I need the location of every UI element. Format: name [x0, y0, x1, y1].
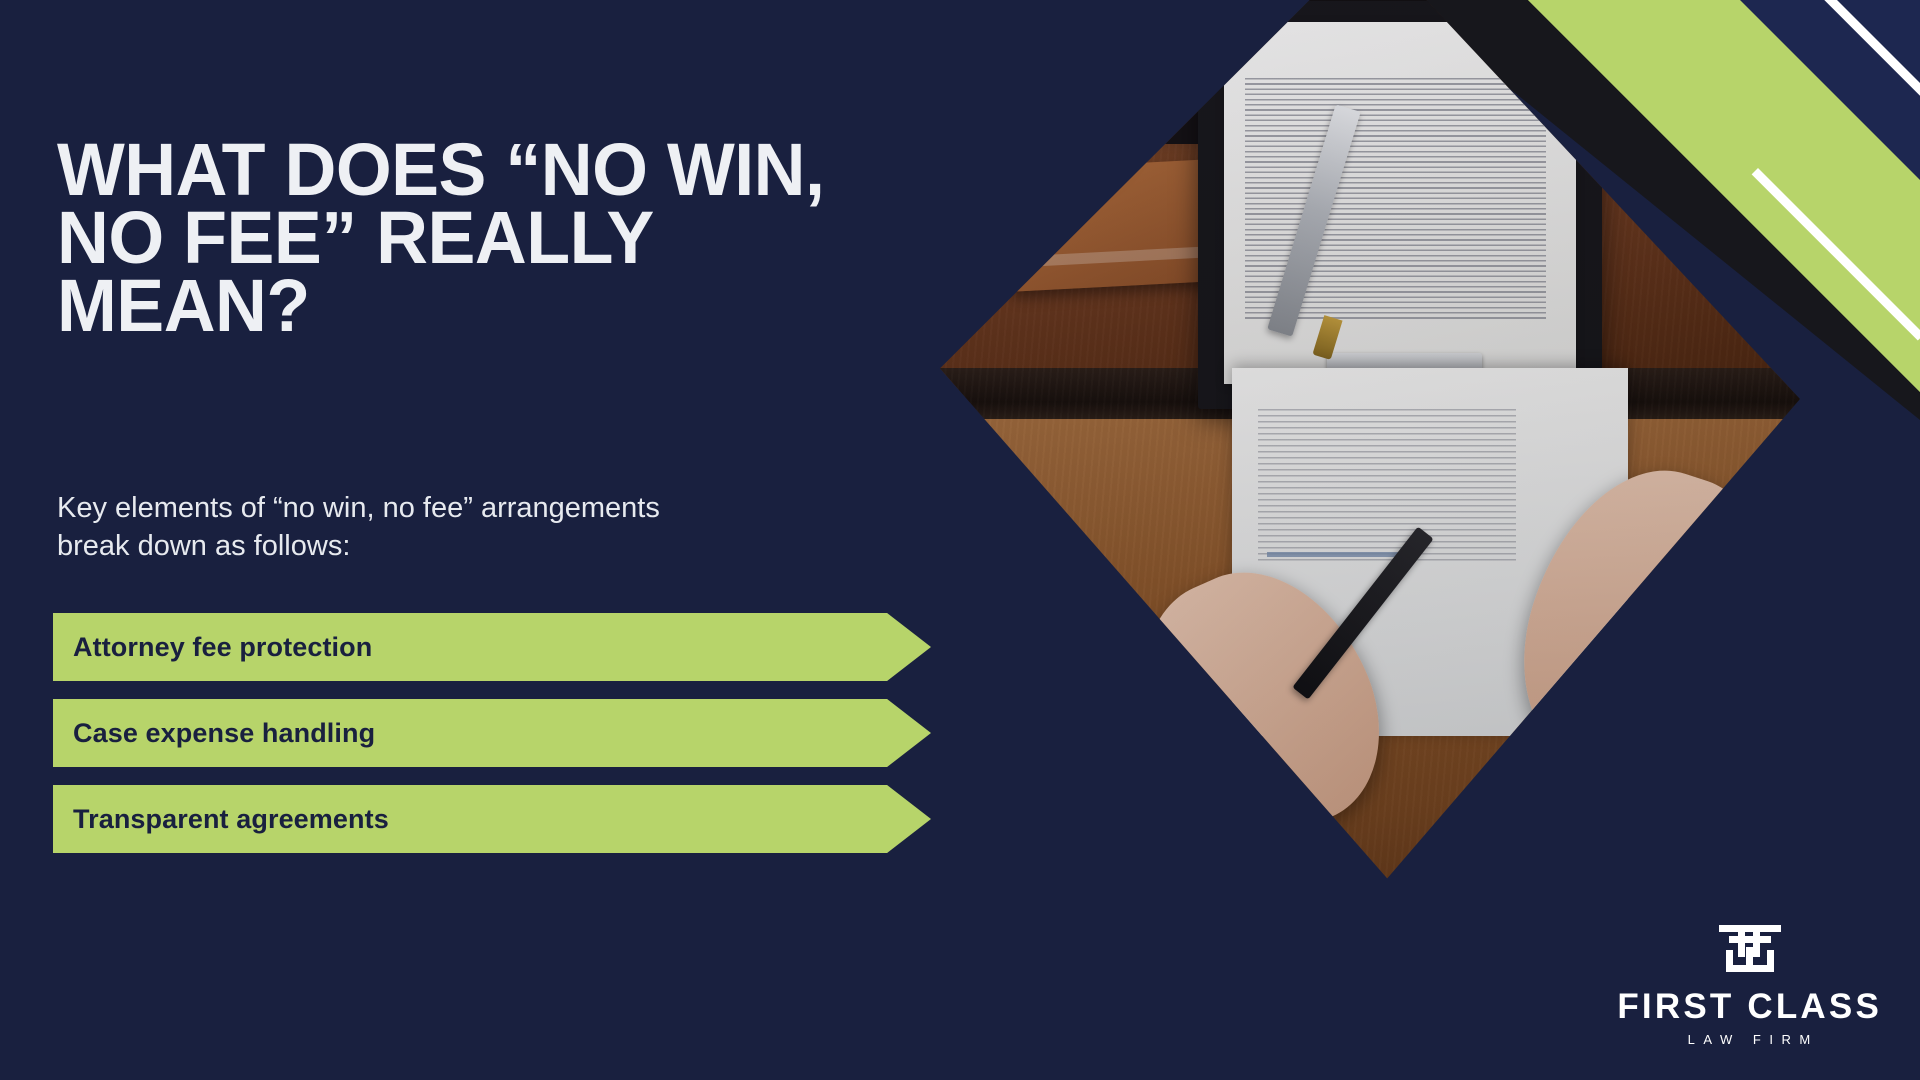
banner-label: Case expense handling — [53, 718, 375, 749]
brand-logo: FIRST CLASS LAW FIRM — [1617, 923, 1882, 1046]
logo-tagline: LAW FIRM — [1617, 1033, 1882, 1046]
content-column: WHAT DOES “NO WIN, NO FEE” REALLY MEAN? … — [0, 0, 960, 1080]
subtitle-text: Key elements of “no win, no fee” arrange… — [57, 490, 677, 565]
diagonal-decor-stripes — [1300, 0, 1920, 470]
banner-label: Attorney fee protection — [53, 632, 372, 663]
list-item[interactable]: Attorney fee protection — [53, 613, 931, 681]
fc-monogram-icon — [1713, 923, 1787, 979]
page-title: WHAT DOES “NO WIN, NO FEE” REALLY MEAN? — [57, 136, 862, 340]
list-item[interactable]: Case expense handling — [53, 699, 931, 767]
logo-name: FIRST CLASS — [1617, 989, 1882, 1024]
list-item[interactable]: Transparent agreements — [53, 785, 931, 853]
banner-label: Transparent agreements — [53, 804, 389, 835]
slide-canvas: WHAT DOES “NO WIN, NO FEE” REALLY MEAN? … — [0, 0, 1920, 1080]
key-elements-list: Attorney fee protection Case expense han… — [53, 613, 933, 871]
grey-sleeve — [1508, 715, 1800, 919]
